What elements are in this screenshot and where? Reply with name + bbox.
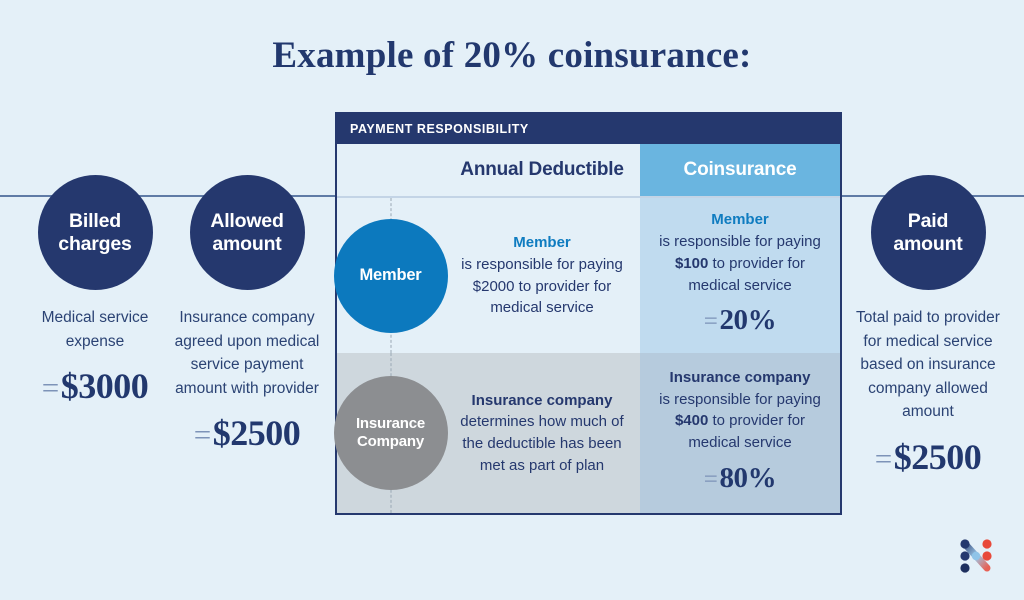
member-deductible-cell: Member is responsible for paying $2000 t… <box>444 198 640 353</box>
insurer-coinsurance-cell: Insurance company is responsible for pay… <box>640 353 840 513</box>
table-banner: PAYMENT RESPONSIBILITY <box>337 114 840 144</box>
member-coinsurance-amount: $100 <box>675 255 708 272</box>
equals-sign: = <box>704 308 718 335</box>
member-percent-value: 20% <box>719 304 776 336</box>
infographic-canvas: Example of 20% coinsurance: Billed charg… <box>0 0 1024 600</box>
column-header-spacer <box>337 144 444 196</box>
insurer-coinsurance-amount: $400 <box>675 412 708 429</box>
billed-charges-label-line1: Billed <box>69 210 121 232</box>
paid-amount-label-line1: Paid <box>908 210 948 232</box>
table-row-insurance-company: Insurance Company Insurance company dete… <box>337 353 840 513</box>
member-deductible-text: is responsible for paying $2000 to provi… <box>461 256 623 317</box>
table-row-member: Member Member is responsible for paying … <box>337 198 840 353</box>
insurer-deductible-who: Insurance company <box>458 390 626 412</box>
insurer-coinsurance-percent: =80% <box>704 457 777 499</box>
billed-charges-circle: Billed charges <box>38 175 153 290</box>
equals-sign: = <box>194 417 211 452</box>
column-header-annual-deductible: Annual Deductible <box>444 144 640 196</box>
insurer-badge-cell: Insurance Company <box>337 353 444 513</box>
letter-n-logo <box>954 534 998 578</box>
paid-amount-caption: Total paid to provider for medical servi… <box>838 306 1018 424</box>
equals-sign: = <box>704 466 718 493</box>
member-circle-label: Member <box>359 266 421 286</box>
flow-node-allowed-amount: Allowed amount Insurance company agreed … <box>157 175 337 454</box>
member-coinsurance-cell: Member is responsible for paying $100 to… <box>640 198 840 353</box>
paid-amount-total: =$2500 <box>838 436 1018 478</box>
insurer-deductible-cell: Insurance company determines how much of… <box>444 353 640 513</box>
billed-charges-amount: $3000 <box>61 366 149 406</box>
member-coinsurance-text-a: is responsible for paying <box>659 233 821 250</box>
insurer-percent-value: 80% <box>719 462 776 494</box>
insurer-deductible-text: determines how much of the deductible ha… <box>460 413 623 474</box>
insurance-company-circle-label-line1: Insurance <box>356 415 425 432</box>
page-title: Example of 20% coinsurance: <box>0 34 1024 77</box>
equals-sign: = <box>875 441 892 476</box>
member-badge-cell: Member <box>337 198 444 353</box>
member-coinsurance-percent: =20% <box>704 299 777 341</box>
allowed-amount-circle: Allowed amount <box>190 175 305 290</box>
column-header-coinsurance: Coinsurance <box>640 144 840 196</box>
table-column-header-row: Annual Deductible Coinsurance <box>337 144 840 198</box>
member-deductible-who: Member <box>458 232 626 254</box>
paid-amount-circle: Paid amount <box>871 175 986 290</box>
billed-charges-label-line2: charges <box>58 233 131 255</box>
paid-amount-label-line2: amount <box>893 233 962 255</box>
allowed-amount-total: =$2500 <box>157 412 337 454</box>
insurance-company-circle: Insurance Company <box>334 376 448 490</box>
member-circle: Member <box>334 219 448 333</box>
allowed-amount-label-line2: amount <box>212 233 281 255</box>
insurer-coinsurance-who: Insurance company <box>654 367 826 389</box>
member-coinsurance-who: Member <box>654 209 826 231</box>
paid-amount-amount: $2500 <box>894 437 982 477</box>
payment-responsibility-table: PAYMENT RESPONSIBILITY Annual Deductible… <box>335 112 842 515</box>
allowed-amount-amount: $2500 <box>213 413 301 453</box>
equals-sign: = <box>42 370 59 405</box>
insurer-coinsurance-text-a: is responsible for paying <box>659 391 821 408</box>
allowed-amount-label-line1: Allowed <box>210 210 283 232</box>
allowed-amount-caption: Insurance company agreed upon medical se… <box>157 306 337 400</box>
flow-node-paid-amount: Paid amount Total paid to provider for m… <box>838 175 1018 478</box>
insurance-company-circle-label-line2: Company <box>357 433 424 450</box>
